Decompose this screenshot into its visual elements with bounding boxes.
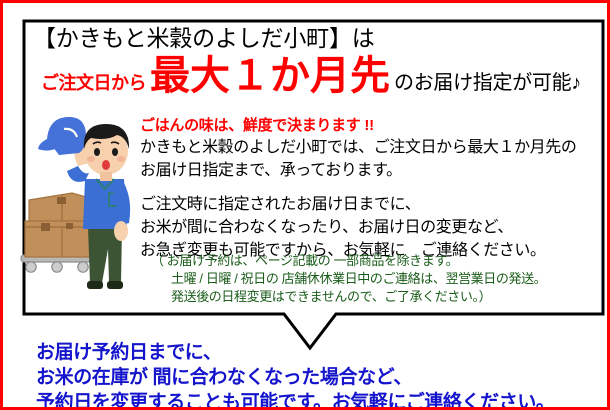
headline-block: 【かきもと米穀のよしだ小町】は ご注文日から 最大１か月先 のお届け指定が可能♪ <box>33 23 598 97</box>
callout-line-3: 予約日を変更することも可能です。お気軽にご連絡ください。 <box>36 390 606 410</box>
delivery-person-illustration <box>17 109 137 314</box>
callout-line-2: お米の在庫が 間に合わなくなった場合など、 <box>36 365 606 390</box>
head-icon <box>84 124 129 181</box>
cardboard-box-upper-icon <box>29 193 93 223</box>
callout-block: お届け予約日までに、 お米の在庫が 間に合わなくなった場合など、 予約日を変更す… <box>36 340 606 410</box>
promo-banner: 【かきもと米穀のよしだ小町】は ご注文日から 最大１か月先 のお届け指定が可能♪ <box>0 0 610 410</box>
fineprint-line-1: （ お届け予約は、ページ記載の 一部商品を除きます。 <box>151 252 606 270</box>
headline-prefix-red: ご注文日から <box>41 69 146 95</box>
callout-line-1: お届け予約日までに、 <box>36 340 606 365</box>
cap-icon <box>38 117 86 155</box>
body-red-heading: ごはんの味は、鮮度で決まります !! <box>140 116 600 136</box>
headline-line-2: ご注文日から 最大１か月先 のお届け指定が可能♪ <box>33 55 598 97</box>
body-paragraph-1-line-2: お届け日指定まで、承っております。 <box>140 159 600 182</box>
headline-emphasis-red: 最大１か月先 <box>150 55 390 97</box>
headline-suffix-black: のお届け指定が可能♪ <box>394 66 581 95</box>
body-paragraph-2-line-1: ご注文時に指定されたお届け日までに、 <box>140 193 600 216</box>
delivery-person-icon <box>17 109 137 314</box>
fineprint-line-3: 発送後の日程変更はできませんので、ご了承ください。） <box>151 288 606 306</box>
body-paragraph-2-line-2: お米が間に合わなくなったり、お届け日の変更など、 <box>140 216 600 239</box>
fineprint-block: （ お届け予約は、ページ記載の 一部商品を除きます。 土曜 / 日曜 / 祝日の… <box>151 252 606 306</box>
body-copy-block: ごはんの味は、鮮度で決まります !! かきもと米穀のよしだ小町では、ご注文日から… <box>140 116 600 262</box>
shoes-icon <box>87 281 123 289</box>
fineprint-line-2: 土曜 / 日曜 / 祝日の 店舗休休業日中のご連絡は、翌営業日の発送。 <box>151 270 606 288</box>
headline-line-1: 【かきもと米穀のよしだ小町】は <box>33 23 598 53</box>
body-paragraph-1-line-1: かきもと米穀のよしだ小町では、ご注文日から最大１か月先の <box>140 136 600 159</box>
